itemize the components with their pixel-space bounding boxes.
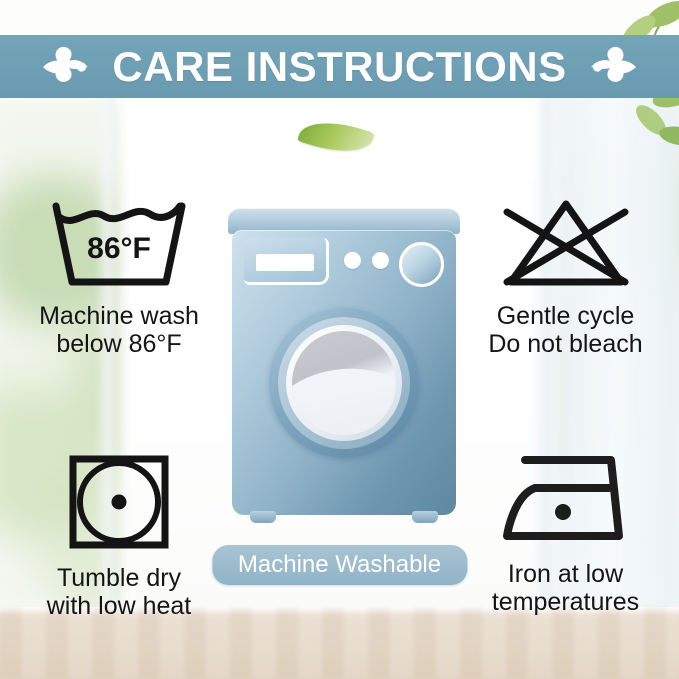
fleur-de-lis-icon-right [585, 45, 637, 89]
washer-door-glass [292, 331, 396, 435]
washing-machine-illustration [228, 208, 460, 528]
washer-control-dot [344, 252, 361, 269]
care-symbol-iron: Iron at low temperatures [468, 450, 663, 617]
washer-foot-left [250, 511, 276, 523]
caption-line-1: Iron at low temperatures [492, 560, 639, 617]
care-instructions-graphic: CARE INSTRUCTIONS 86°F Machine wash belo… [0, 0, 679, 679]
washer-body [232, 230, 456, 515]
page-title: CARE INSTRUCTIONS [112, 46, 566, 88]
tumble-dry-icon [64, 450, 174, 554]
caption-text: Do not bleach [488, 330, 642, 358]
caption-text: Iron at low [492, 560, 639, 588]
washer-drawer-slot [256, 254, 314, 271]
caption-text: Gentle cycle [488, 302, 642, 330]
washer-control-dot [372, 252, 389, 269]
washer-detergent-drawer [244, 238, 329, 285]
wash-temperature-label: 86°F [87, 232, 151, 265]
caption-line-1: Machine wash below 86°F [39, 302, 199, 359]
washer-program-knob [399, 242, 444, 287]
caption-text: temperatures [492, 588, 639, 616]
care-symbol-machine-wash: 86°F Machine wash below 86°F [24, 196, 214, 359]
caption-text: with low heat [47, 592, 192, 620]
washer-foot-right [412, 511, 438, 523]
iron-icon [491, 450, 641, 550]
caption-text: Tumble dry [47, 564, 192, 592]
caption-text: below 86°F [39, 330, 199, 358]
machine-washable-badge: Machine Washable [212, 545, 467, 585]
caption-line-1: Gentle cycle Do not bleach [488, 302, 642, 359]
fleur-de-lis-icon-left [42, 45, 94, 89]
care-symbol-tumble-dry: Tumble dry with low heat [24, 450, 214, 621]
caption-text: Machine wash [39, 302, 199, 330]
triangle-crossed-icon [491, 196, 641, 292]
care-symbol-do-not-bleach: Gentle cycle Do not bleach [468, 196, 663, 359]
header-banner: CARE INSTRUCTIONS [0, 35, 679, 98]
caption-line-1: Tumble dry with low heat [47, 564, 192, 621]
wash-tub-icon: 86°F [44, 196, 194, 292]
